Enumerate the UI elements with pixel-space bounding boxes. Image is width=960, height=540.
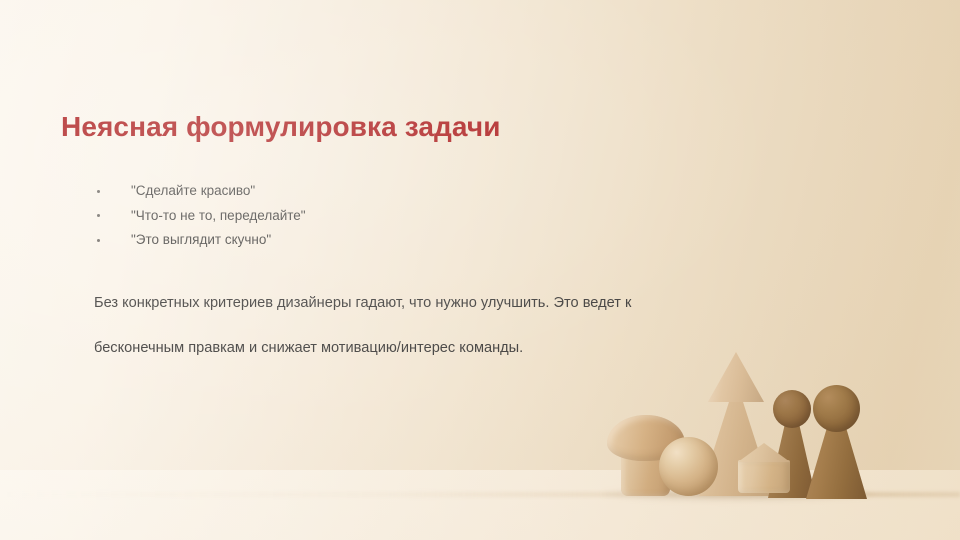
- sphere-figurine: [659, 437, 718, 496]
- bullet-text: "Сделайте красиво": [131, 183, 255, 198]
- peg-doll-large-figurine-head: [813, 385, 860, 432]
- bullet-text: "Что-то не то, переделайте": [131, 208, 306, 223]
- bullet-dot-icon: [97, 239, 100, 242]
- wooden-toy-figurines: [595, 330, 885, 505]
- list-item: "Что-то не то, переделайте": [95, 204, 306, 229]
- house-block-figurine-body: [738, 460, 790, 493]
- slide-title: Неясная формулировка задачи: [61, 111, 501, 143]
- list-item: "Это выглядит скучно": [95, 228, 306, 253]
- bullet-text: "Это выглядит скучно": [131, 232, 271, 247]
- list-item: "Сделайте красиво": [95, 179, 306, 204]
- bullet-list: "Сделайте красиво" "Что-то не то, переде…: [95, 179, 306, 253]
- bullet-dot-icon: [97, 190, 100, 193]
- paragraph-line: Без конкретных критериев дизайнеры гадаю…: [94, 293, 824, 314]
- peg-doll-small-figurine-head: [773, 390, 811, 428]
- slide: Неясная формулировка задачи "Сделайте кр…: [0, 0, 960, 540]
- bullet-dot-icon: [97, 214, 100, 217]
